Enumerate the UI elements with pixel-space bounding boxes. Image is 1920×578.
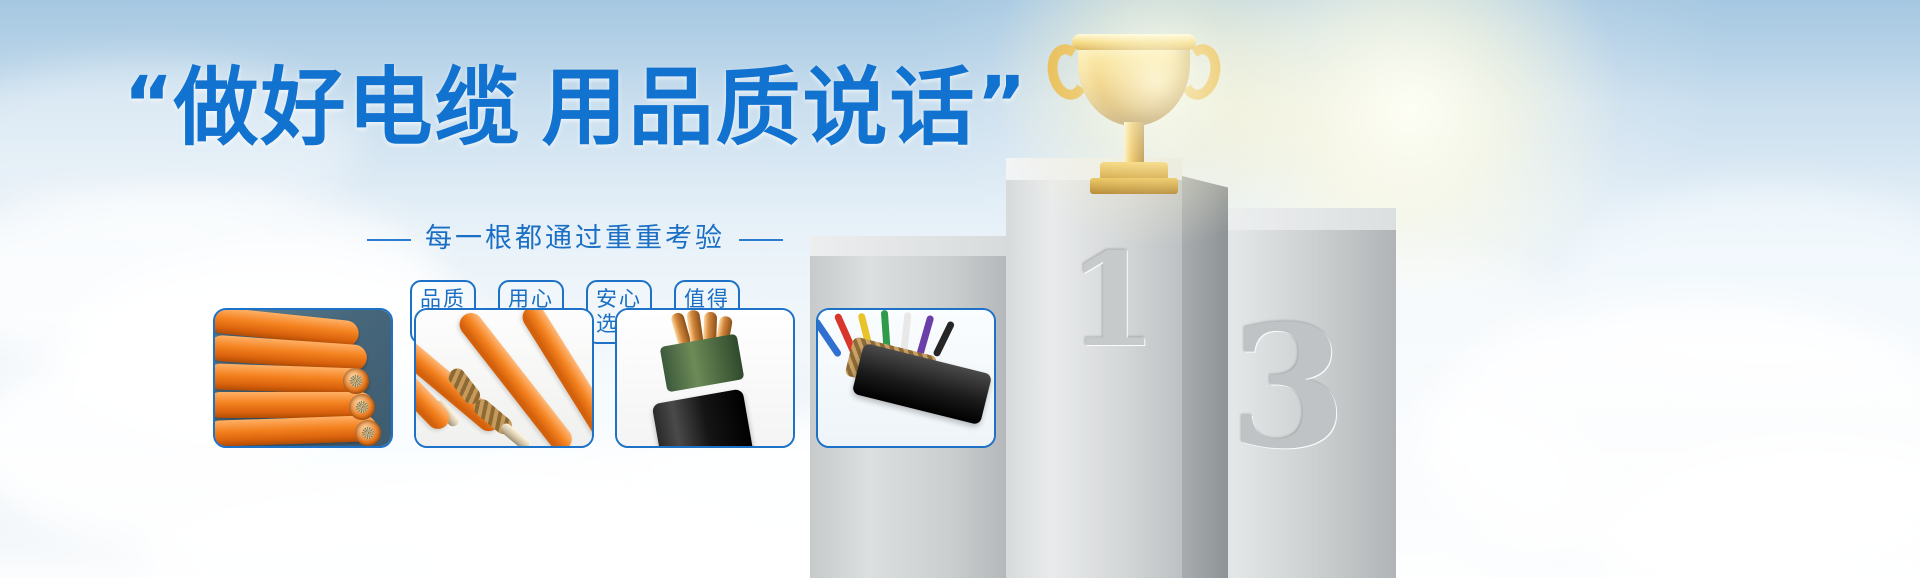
podium-number-3: 3: [1230, 288, 1347, 486]
orange-cable-stripped-photo: [416, 310, 592, 446]
product-thumbnail-armoured-copper-cable: [615, 308, 795, 448]
product-thumbnail-list: [213, 308, 996, 448]
dash-left: [367, 239, 411, 241]
black-armoured-copper-cable-photo: [617, 310, 793, 446]
podium-block-1-side: [1182, 176, 1228, 578]
banner-subline: 每一根都通过重重考验: [0, 216, 1150, 255]
product-thumbnail-orange-cable-coil: [213, 308, 393, 448]
product-thumbnail-orange-cable-stripped: [414, 308, 594, 448]
banner-headline: “做好电缆用品质说话”: [0, 66, 1150, 151]
subline-text: 每一根都通过重重考验: [425, 223, 725, 254]
close-quote: ”: [977, 59, 1027, 148]
headline-part-2: 用品质说话: [542, 59, 977, 158]
headline-part-1: 做好电缆: [173, 59, 521, 158]
promotional-banner: 2 3 1 “做好电缆用品质说话” 每一根都通过重重考验 品质: [0, 0, 1920, 578]
shielded-multicore-cable-photo: [818, 310, 994, 446]
banner-copy: “做好电缆用品质说话” 每一根都通过重重考验 品质 保障 用心 保障 安心 选择…: [0, 0, 1150, 578]
product-thumbnail-shielded-multicore-cable: [816, 308, 996, 448]
dash-right: [739, 239, 783, 241]
orange-cable-coil-photo: [215, 310, 391, 446]
open-quote: “: [124, 59, 174, 148]
